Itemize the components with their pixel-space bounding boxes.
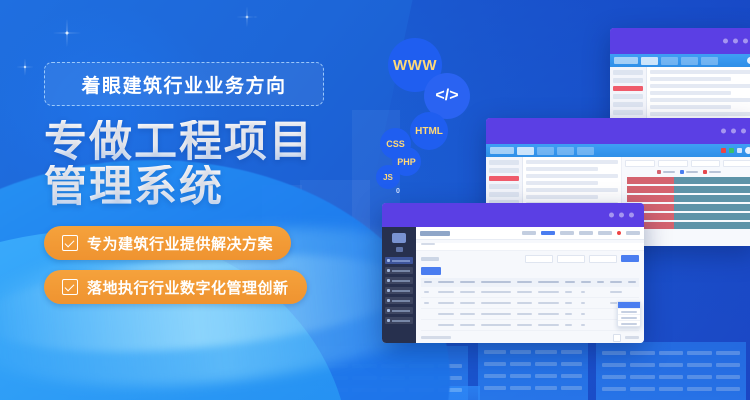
sparkle-icon	[16, 58, 34, 76]
list-item[interactable]	[650, 112, 750, 116]
table-row[interactable]	[421, 297, 639, 308]
list-item[interactable]	[650, 70, 750, 74]
sidebar-item[interactable]	[489, 160, 519, 165]
bubble-zero-icon: 0	[390, 183, 406, 199]
nav-tab[interactable]	[661, 57, 678, 65]
search-input[interactable]	[589, 255, 617, 263]
pagination-summary	[421, 336, 451, 339]
list-item[interactable]	[650, 98, 750, 102]
chart-filter-row	[625, 160, 750, 167]
marketing-banner: 着眼建筑行业业务方向 专做工程项目 管理系统 专为建筑行业提供解决方案 落地执行…	[0, 0, 750, 400]
avatar[interactable]	[745, 147, 750, 154]
nav-tab[interactable]	[641, 57, 658, 65]
list-item[interactable]	[526, 160, 618, 164]
list-item[interactable]	[650, 91, 731, 95]
bar-row	[627, 195, 750, 202]
sidebar-item[interactable]	[613, 78, 643, 83]
page-header	[416, 227, 644, 240]
nav-tab[interactable]	[537, 147, 554, 155]
list-item[interactable]	[526, 188, 618, 192]
chart-legend	[625, 170, 750, 174]
list-item[interactable]	[650, 84, 750, 88]
filter-field[interactable]	[723, 160, 750, 167]
filter-field[interactable]	[691, 160, 721, 167]
filter-field[interactable]	[625, 160, 655, 167]
bar-row	[627, 222, 750, 229]
table-header-row	[421, 278, 639, 287]
header-tab[interactable]	[598, 231, 612, 235]
header-tab-active[interactable]	[541, 231, 555, 235]
list-item[interactable]	[650, 77, 731, 81]
sparkle-icon	[236, 6, 258, 28]
search-button[interactable]	[621, 255, 639, 262]
feature-pill-2[interactable]: 落地执行行业数字化管理创新	[44, 270, 307, 304]
header-tab[interactable]	[560, 231, 574, 235]
table-row[interactable]	[421, 308, 639, 319]
context-menu-item[interactable]	[618, 320, 640, 326]
list-item[interactable]	[650, 105, 731, 109]
sidebar-item-active[interactable]	[489, 176, 519, 181]
sidebar-item[interactable]	[613, 70, 643, 75]
bar-row	[627, 213, 750, 220]
filter-dropdown[interactable]	[557, 255, 585, 263]
collapse-icon[interactable]	[396, 247, 403, 252]
nav-tab[interactable]	[557, 147, 574, 155]
breadcrumb	[416, 243, 644, 251]
sidebar-item[interactable]	[385, 287, 413, 294]
notification-badge[interactable]	[617, 231, 621, 235]
legend-entry	[680, 170, 698, 174]
sidebar-item[interactable]	[489, 192, 519, 197]
record-list	[647, 67, 750, 122]
content-area	[416, 227, 644, 343]
legend-entry	[703, 170, 721, 174]
feature-pill-2-label: 落地执行行业数字化管理创新	[87, 277, 289, 298]
page-size-label	[625, 336, 639, 339]
sidebar-item[interactable]	[385, 297, 413, 304]
top-nav-bar	[486, 144, 750, 157]
top-nav-bar	[610, 54, 750, 67]
page-title: 专做工程项目 管理系统	[44, 120, 344, 210]
feature-pill-1[interactable]: 专为建筑行业提供解决方案	[44, 226, 291, 260]
feature-list: 专为建筑行业提供解决方案 落地执行行业数字化管理创新	[44, 226, 344, 314]
sidebar-item[interactable]	[385, 277, 413, 284]
sidebar-item[interactable]	[489, 184, 519, 189]
project-list-dashboard-mockup	[382, 203, 644, 343]
building-block	[596, 342, 746, 400]
sidebar-item[interactable]	[613, 102, 643, 107]
settings-icon[interactable]	[737, 148, 742, 153]
sidebar-item[interactable]	[489, 168, 519, 173]
table-row[interactable]	[421, 319, 639, 330]
page-title	[420, 231, 450, 236]
headline-group: 着眼建筑行业业务方向 专做工程项目 管理系统 专为建筑行业提供解决方案 落地执行…	[44, 62, 344, 314]
header-tab[interactable]	[522, 231, 536, 235]
user-menu[interactable]	[626, 231, 640, 235]
nav-tab[interactable]	[701, 57, 718, 65]
filter-toolbar	[416, 251, 644, 265]
data-table	[421, 278, 639, 331]
legend-entry	[657, 170, 675, 174]
window-titlebar	[610, 28, 750, 54]
subtitle-box: 着眼建筑行业业务方向	[44, 62, 324, 106]
bar-row	[627, 186, 750, 193]
list-item[interactable]	[526, 181, 598, 185]
sidebar-item[interactable]	[385, 307, 413, 314]
sidebar-item[interactable]	[385, 317, 413, 324]
sidebar-item[interactable]	[613, 94, 643, 99]
filter-label	[421, 257, 439, 261]
headline-line-1: 专做工程项目	[44, 120, 344, 165]
subtitle-text: 着眼建筑行业业务方向	[81, 71, 286, 98]
message-icon[interactable]	[729, 148, 734, 153]
sidebar	[382, 227, 416, 343]
list-item[interactable]	[526, 167, 598, 171]
checkbox-icon	[62, 235, 78, 251]
bubble-html-icon: HTML	[410, 112, 448, 150]
sidebar-item-active[interactable]	[613, 86, 643, 91]
app-logo	[490, 147, 514, 154]
sparkle-icon	[52, 18, 82, 48]
sidebar-item[interactable]	[613, 110, 643, 115]
app-logo	[392, 233, 406, 243]
page-button[interactable]	[613, 334, 621, 342]
bar-row	[627, 177, 750, 184]
sidebar-item-active[interactable]	[385, 257, 413, 264]
window-titlebar	[486, 118, 750, 144]
feature-pill-1-label: 专为建筑行业提供解决方案	[87, 233, 273, 254]
headline-line-2: 管理系统	[44, 165, 344, 210]
sidebar-item[interactable]	[385, 267, 413, 274]
window-titlebar	[382, 203, 644, 227]
bar-row	[627, 204, 750, 211]
context-menu[interactable]	[617, 301, 641, 327]
filter-field[interactable]	[658, 160, 688, 167]
table-row[interactable]	[421, 287, 639, 298]
app-logo	[614, 57, 638, 64]
alert-icon[interactable]	[721, 148, 726, 153]
nav-tab[interactable]	[577, 147, 594, 155]
list-item[interactable]	[526, 174, 618, 178]
nav-tab[interactable]	[517, 147, 534, 155]
pagination	[416, 331, 644, 344]
checkbox-icon	[62, 279, 78, 295]
filter-dropdown[interactable]	[525, 255, 553, 263]
header-tab[interactable]	[579, 231, 593, 235]
list-item[interactable]	[526, 195, 598, 199]
add-button[interactable]	[421, 267, 441, 275]
nav-tab[interactable]	[681, 57, 698, 65]
